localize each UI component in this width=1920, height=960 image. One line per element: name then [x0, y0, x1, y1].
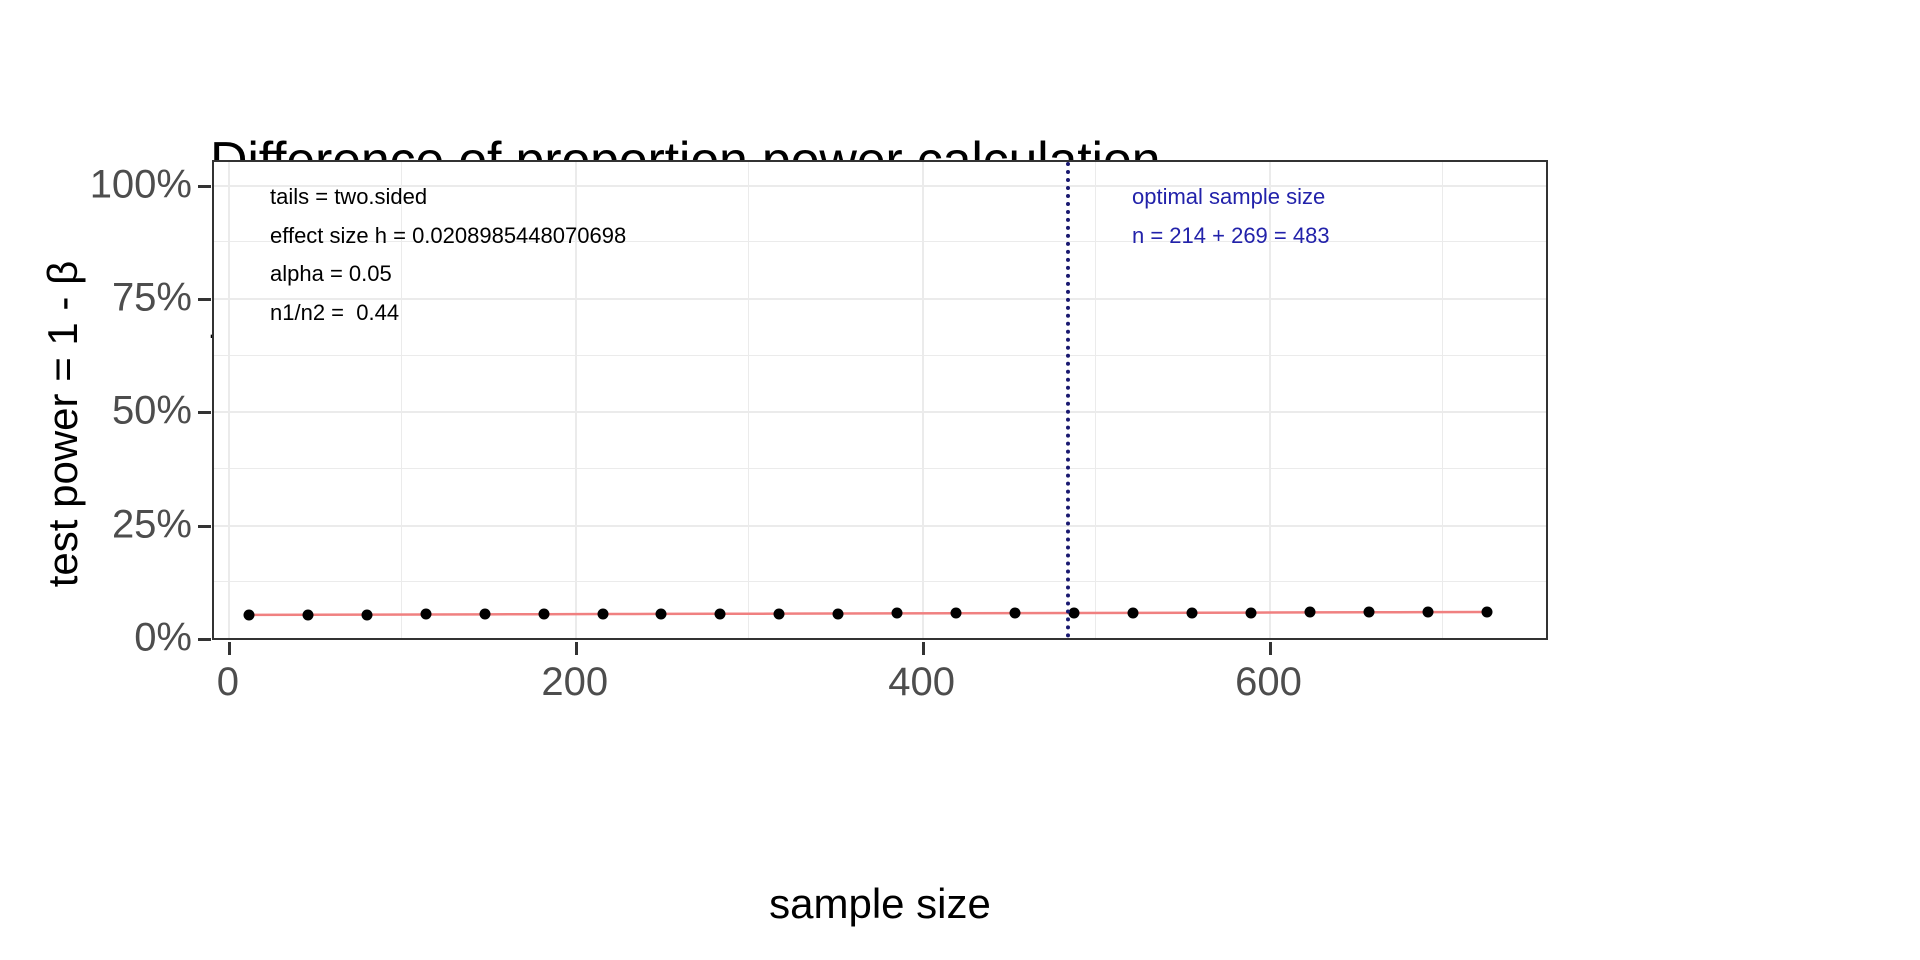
- x-tick-mark: [228, 642, 231, 655]
- x-tick-label: 600: [1235, 660, 1302, 705]
- data-point: [1246, 607, 1257, 618]
- data-point: [243, 609, 254, 620]
- x-tick-mark: [1269, 642, 1272, 655]
- y-tick-mark: [198, 185, 211, 188]
- annotation-parameters-line-1: tails = two.sided: [270, 178, 626, 217]
- x-axis-title: sample size: [212, 880, 1548, 928]
- data-point: [1128, 607, 1139, 618]
- data-point: [1069, 607, 1080, 618]
- data-point: [951, 608, 962, 619]
- data-point: [656, 608, 667, 619]
- data-point: [715, 608, 726, 619]
- y-tick-label: 50%: [112, 389, 192, 434]
- gridline-major-horizontal: [214, 638, 1546, 640]
- y-tick-label: 75%: [112, 276, 192, 321]
- y-tick-mark: [198, 298, 211, 301]
- data-point: [833, 608, 844, 619]
- x-tick-label: 0: [217, 660, 239, 705]
- x-tick-mark: [922, 642, 925, 655]
- power-curve-chart: Difference of proportion power calculati…: [0, 0, 1920, 960]
- y-tick-mark: [198, 638, 211, 641]
- data-point: [302, 609, 313, 620]
- x-tick-label: 400: [888, 660, 955, 705]
- data-point: [1305, 607, 1316, 618]
- data-point: [892, 608, 903, 619]
- power-line-path: [249, 612, 1487, 615]
- annotation-optimal-sample-size-line-2: n = 214 + 269 = 483: [1132, 217, 1330, 256]
- y-tick-mark: [198, 411, 211, 414]
- annotation-parameters-line-2: effect size h = 0.0208985448070698: [270, 217, 626, 256]
- data-point: [1187, 607, 1198, 618]
- data-point: [479, 609, 490, 620]
- y-tick-mark: [198, 525, 211, 528]
- data-point: [1423, 607, 1434, 618]
- data-point: [538, 609, 549, 620]
- annotation-optimal-sample-size-line-1: optimal sample size: [1132, 178, 1330, 217]
- y-tick-label: 0%: [134, 616, 192, 661]
- annotation-parameters-line-3: alpha = 0.05: [270, 255, 626, 294]
- data-point: [361, 609, 372, 620]
- x-tick-mark: [575, 642, 578, 655]
- data-point: [774, 608, 785, 619]
- data-point: [1364, 607, 1375, 618]
- y-tick-label: 25%: [112, 502, 192, 547]
- annotation-optimal-sample-size: optimal sample sizen = 214 + 269 = 483: [1132, 178, 1330, 255]
- x-tick-label: 200: [541, 660, 608, 705]
- optimal-sample-size-vline: [1066, 162, 1070, 638]
- annotation-parameters-line-4: n1/n2 = 0.44: [270, 294, 626, 333]
- data-point: [420, 609, 431, 620]
- data-point: [1010, 608, 1021, 619]
- data-point: [597, 609, 608, 620]
- data-point: [1482, 607, 1493, 618]
- plot-panel: tails = two.sidedeffect size h = 0.02089…: [212, 160, 1548, 640]
- annotation-parameters: tails = two.sidedeffect size h = 0.02089…: [270, 178, 626, 332]
- y-tick-label: 100%: [90, 162, 192, 207]
- y-axis-title: test power = 1 - β: [39, 164, 87, 684]
